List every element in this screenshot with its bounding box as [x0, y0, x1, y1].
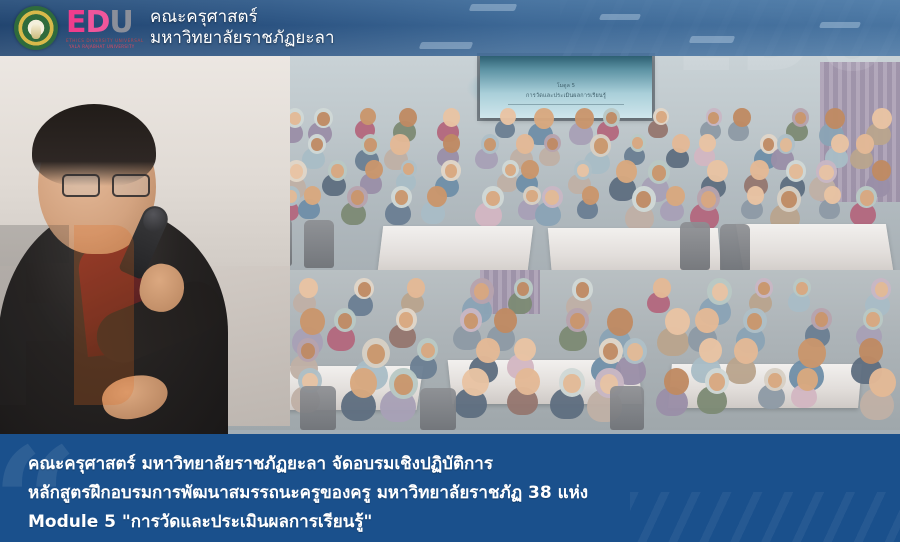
- person-head: [427, 186, 447, 207]
- person-face: [796, 282, 808, 295]
- person-head: [514, 338, 536, 361]
- person-face: [627, 343, 643, 361]
- person-head: [699, 134, 716, 152]
- person-head: [747, 186, 765, 205]
- ceiling-light: [599, 14, 641, 20]
- university-seal-icon: [14, 6, 58, 50]
- eyeglasses-icon: [62, 174, 150, 194]
- person-face: [577, 164, 589, 177]
- person-head: [664, 368, 689, 395]
- person-head: [390, 134, 409, 155]
- person-head: [856, 134, 875, 154]
- person-face: [367, 344, 385, 364]
- person-head: [399, 108, 417, 127]
- person-face: [358, 282, 371, 296]
- person-head: [365, 160, 383, 179]
- person-head: [695, 308, 718, 333]
- person-head: [443, 108, 461, 127]
- person-face: [399, 312, 413, 327]
- person-face: [815, 312, 828, 327]
- person-face: [526, 190, 537, 203]
- person-head: [476, 338, 500, 363]
- person-head: [534, 108, 554, 129]
- person-head: [607, 308, 633, 336]
- person-head: [299, 278, 318, 298]
- person-head: [407, 278, 425, 298]
- caption-line-2: หลักสูตรฝึกอบรมการพัฒนาสมรรถนะครูของครู …: [28, 479, 690, 508]
- person-face: [394, 374, 413, 395]
- person-head: [360, 108, 376, 125]
- chair: [680, 222, 710, 270]
- person-face: [701, 191, 716, 208]
- speaker-photo: [0, 56, 290, 426]
- person-face: [331, 164, 343, 178]
- person-head: [734, 338, 758, 364]
- person-head: [831, 134, 849, 153]
- edu-letter-e: E: [66, 5, 86, 40]
- ceiling-light: [469, 4, 518, 11]
- person-face: [652, 165, 666, 181]
- person-face: [505, 164, 516, 176]
- person-head: [666, 186, 685, 206]
- person-head: [462, 368, 488, 396]
- person-face: [311, 138, 323, 151]
- edu-subtagline: YALA RAJABHAT UNIVERSITY: [69, 44, 145, 49]
- person-face: [780, 138, 792, 152]
- person-face: [484, 138, 496, 151]
- edu-logo: EDU ETHICS DIVERSITY UNIVERSAL YALA RAJA…: [66, 8, 138, 50]
- person-head: [350, 368, 378, 398]
- person-head: [859, 338, 883, 364]
- person-face: [576, 282, 590, 297]
- caption-bar: “ วันที่ 15 กุมภาพันธ์ 2568 คณะครุศาสตร์…: [0, 434, 900, 542]
- person-face: [317, 112, 329, 126]
- person-head: [582, 186, 599, 205]
- person-head: [869, 368, 896, 397]
- person-face: [301, 343, 315, 359]
- person-head: [798, 338, 826, 368]
- edu-letter-d: D: [86, 5, 110, 40]
- chair: [610, 386, 644, 430]
- person-face: [758, 282, 770, 295]
- ceiling-light: [689, 36, 736, 43]
- ceiling-light: [819, 22, 861, 28]
- person-face: [656, 111, 666, 123]
- person-head: [872, 108, 891, 129]
- faculty-title: คณะครุศาสตร์ มหาวิทยาลัยราชภัฏยะลา: [150, 7, 335, 49]
- person-face: [866, 312, 879, 327]
- caption-line-1: คณะครุศาสตร์ มหาวิทยาลัยราชภัฏยะลา จัดอบ…: [28, 450, 690, 479]
- chair: [304, 220, 334, 268]
- chair: [720, 224, 750, 272]
- ceiling-light: [419, 42, 474, 49]
- person-face: [594, 138, 608, 153]
- chair: [420, 388, 456, 430]
- person-head: [494, 308, 517, 333]
- caption-line-3: Module 5 "การวัดและประเมินผลการเรียนรู้": [28, 508, 690, 537]
- person-face: [289, 112, 301, 125]
- person-head: [616, 160, 637, 183]
- person-face: [606, 112, 617, 125]
- faculty-title-line2: มหาวิทยาลัยราชภัฏยะลา: [150, 28, 335, 49]
- person-head: [653, 278, 672, 298]
- edu-tagline: ETHICS DIVERSITY UNIVERSAL: [66, 38, 142, 43]
- person-head: [797, 368, 818, 391]
- person-head: [665, 308, 690, 335]
- person-head: [443, 134, 460, 153]
- person-face: [709, 373, 725, 391]
- person-head: [304, 186, 321, 205]
- person-face: [464, 313, 478, 329]
- person-head: [521, 160, 538, 179]
- person-face: [570, 313, 585, 330]
- person-head: [575, 108, 594, 129]
- chair: [300, 386, 336, 430]
- person-head: [825, 108, 845, 129]
- person-face: [517, 282, 529, 296]
- person-head: [300, 308, 325, 335]
- person-head: [500, 108, 516, 125]
- person-face: [712, 283, 728, 301]
- person-head: [750, 160, 769, 180]
- person-face: [781, 191, 796, 208]
- person-face: [445, 164, 458, 178]
- person-face: [364, 138, 377, 152]
- person-face: [875, 282, 888, 297]
- person-head: [733, 108, 750, 127]
- event-poster: โมดูล 5 การวัดและประเมินผลการเรียนรู้: [0, 0, 900, 542]
- person-face: [486, 191, 500, 207]
- person-head: [515, 368, 540, 395]
- edu-logo-letters: EDU: [66, 8, 133, 38]
- person-head: [672, 134, 690, 153]
- edu-letter-u: U: [109, 5, 132, 40]
- person-head: [872, 160, 891, 181]
- person-face: [860, 190, 874, 205]
- caption-text: คณะครุศาสตร์ มหาวิทยาลัยราชภัฏยะลา จัดอบ…: [28, 450, 690, 537]
- person-face: [421, 343, 435, 359]
- faculty-title-line1: คณะครุศาสตร์: [150, 7, 335, 28]
- person-face: [819, 165, 833, 181]
- conference-table: [736, 224, 894, 276]
- person-face: [563, 374, 580, 393]
- person-head: [699, 338, 722, 363]
- person-head: [516, 134, 535, 154]
- header-banner: EDU ETHICS DIVERSITY UNIVERSAL YALA RAJA…: [0, 0, 900, 56]
- person-face: [547, 138, 558, 150]
- person-face: [789, 164, 802, 179]
- person-head: [824, 186, 841, 204]
- person-head: [707, 160, 727, 182]
